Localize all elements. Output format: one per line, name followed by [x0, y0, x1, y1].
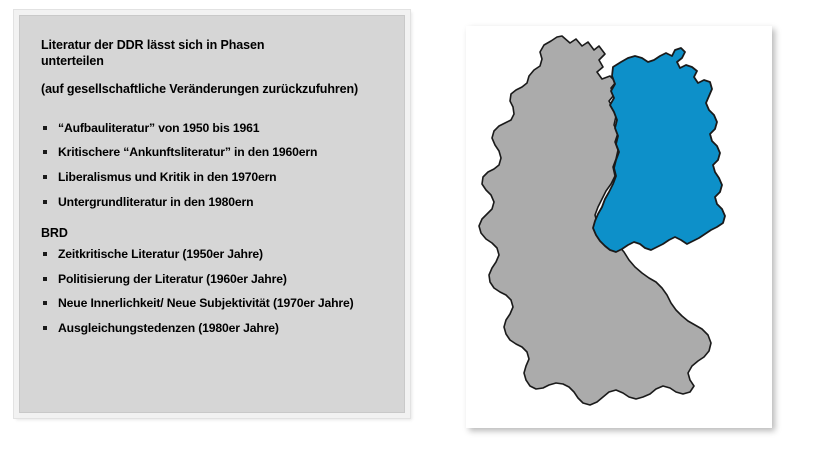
list-item-label: Ausgleichungstedenzen (1980er Jahre) — [58, 321, 279, 335]
germany-map-icon — [466, 26, 772, 428]
content-panel-inner: Literatur der DDR lässt sich in Phasen u… — [19, 15, 405, 413]
page-title: Literatur der DDR lässt sich in Phasen u… — [41, 37, 387, 70]
square-bullet-icon — [43, 200, 47, 204]
square-bullet-icon — [43, 126, 47, 130]
list-item: Zeitkritische Literatur (1950er Jahre) — [41, 247, 387, 263]
list-item-label: Kritischere “Ankunftsliteratur” in den 1… — [58, 145, 317, 159]
list-item-label: Zeitkritische Literatur (1950er Jahre) — [58, 247, 263, 261]
square-bullet-icon — [43, 277, 47, 281]
square-bullet-icon — [43, 175, 47, 179]
square-bullet-icon — [43, 252, 47, 256]
list-item: Liberalismus und Kritik in den 1970ern — [41, 170, 387, 186]
ddr-phases-list: “Aufbauliteratur” von 1950 bis 1961 Krit… — [41, 121, 387, 210]
brd-phases-list: Zeitkritische Literatur (1950er Jahre) P… — [41, 247, 387, 336]
page-title-line-1: Literatur der DDR lässt sich in Phasen — [41, 38, 264, 52]
list-item-label: “Aufbauliteratur” von 1950 bis 1961 — [58, 121, 259, 135]
page-subtitle: (auf gesellschaftliche Veränderungen zur… — [41, 81, 387, 97]
germany-map-card — [466, 26, 772, 428]
list-item-label: Liberalismus und Kritik in den 1970ern — [58, 170, 276, 184]
list-item: “Aufbauliteratur” von 1950 bis 1961 — [41, 121, 387, 137]
list-item: Kritischere “Ankunftsliteratur” in den 1… — [41, 145, 387, 161]
list-item: Ausgleichungstedenzen (1980er Jahre) — [41, 321, 387, 337]
page-title-line-2: unterteilen — [41, 54, 104, 68]
square-bullet-icon — [43, 326, 47, 330]
list-item-label: Politisierung der Literatur (1960er Jahr… — [58, 272, 287, 286]
square-bullet-icon — [43, 301, 47, 305]
brd-section-label: BRD — [41, 226, 387, 240]
square-bullet-icon — [43, 150, 47, 154]
list-item-label: Untergrundliteratur in den 1980ern — [58, 195, 253, 209]
content-panel: Literatur der DDR lässt sich in Phasen u… — [14, 10, 410, 418]
list-item-label: Neue Innerlichkeit/ Neue Subjektivität (… — [58, 296, 354, 310]
list-item: Untergrundliteratur in den 1980ern — [41, 195, 387, 211]
list-item: Politisierung der Literatur (1960er Jahr… — [41, 272, 387, 288]
list-item: Neue Innerlichkeit/ Neue Subjektivität (… — [41, 296, 387, 312]
